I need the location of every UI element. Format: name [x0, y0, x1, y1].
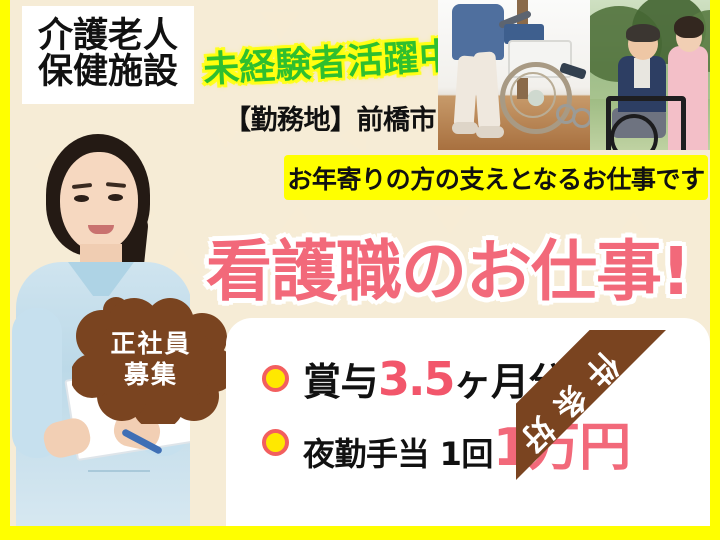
benefit-suffix: ヶ月分 — [454, 360, 567, 404]
yellow-dot-icon — [262, 429, 289, 456]
benefits-card: 賞与3.5ヶ月分 夜勤手当 1回1万円 好条件 — [226, 318, 710, 526]
facility-plate-line1: 介護老人 — [38, 19, 178, 55]
elderly-outdoor-photo — [590, 0, 710, 150]
benefit-text: 賞与3.5ヶ月分 — [303, 351, 566, 406]
facility-type-plate: 介護老人 保健施設 — [22, 6, 194, 104]
yellow-dot-icon — [262, 365, 289, 392]
benefit-row: 賞与3.5ヶ月分 — [262, 346, 630, 410]
benefit-highlight: 3.5 — [378, 352, 454, 406]
benefit-prefix: 賞与 — [303, 360, 378, 404]
photo-strip — [438, 0, 710, 150]
benefits-list: 賞与3.5ヶ月分 夜勤手当 1回1万円 — [262, 346, 630, 474]
caption-text: お年寄りの方の支えとなるお仕事です — [287, 160, 704, 196]
work-location-text: 【勤務地】前橋市 — [224, 98, 436, 137]
job-advertisement-banner: 介護老人 保健施設 未経験者活躍中 【勤務地】前橋市 — [0, 0, 720, 540]
hero-headline: 看護職のお仕事! — [206, 218, 690, 314]
facility-plate-line2: 保健施設 — [38, 55, 178, 91]
wheelchair-indoor-photo — [438, 0, 590, 150]
benefit-prefix: 夜勤手当 1回 — [303, 435, 493, 473]
experience-welcome-headline: 未経験者活躍中 — [202, 27, 457, 93]
benefit-text: 夜勤手当 1回1万円 — [303, 405, 630, 480]
badge-line1: 正社員 — [110, 330, 191, 359]
fulltime-recruit-badge: 正社員 募集 — [72, 296, 230, 424]
benefit-highlight: 1万円 — [493, 418, 630, 478]
benefit-row: 夜勤手当 1回1万円 — [262, 410, 630, 474]
caption-bar: お年寄りの方の支えとなるお仕事です — [284, 155, 708, 200]
badge-line2: 募集 — [124, 361, 178, 390]
ad-canvas: 介護老人 保健施設 未経験者活躍中 【勤務地】前橋市 — [10, 0, 710, 526]
